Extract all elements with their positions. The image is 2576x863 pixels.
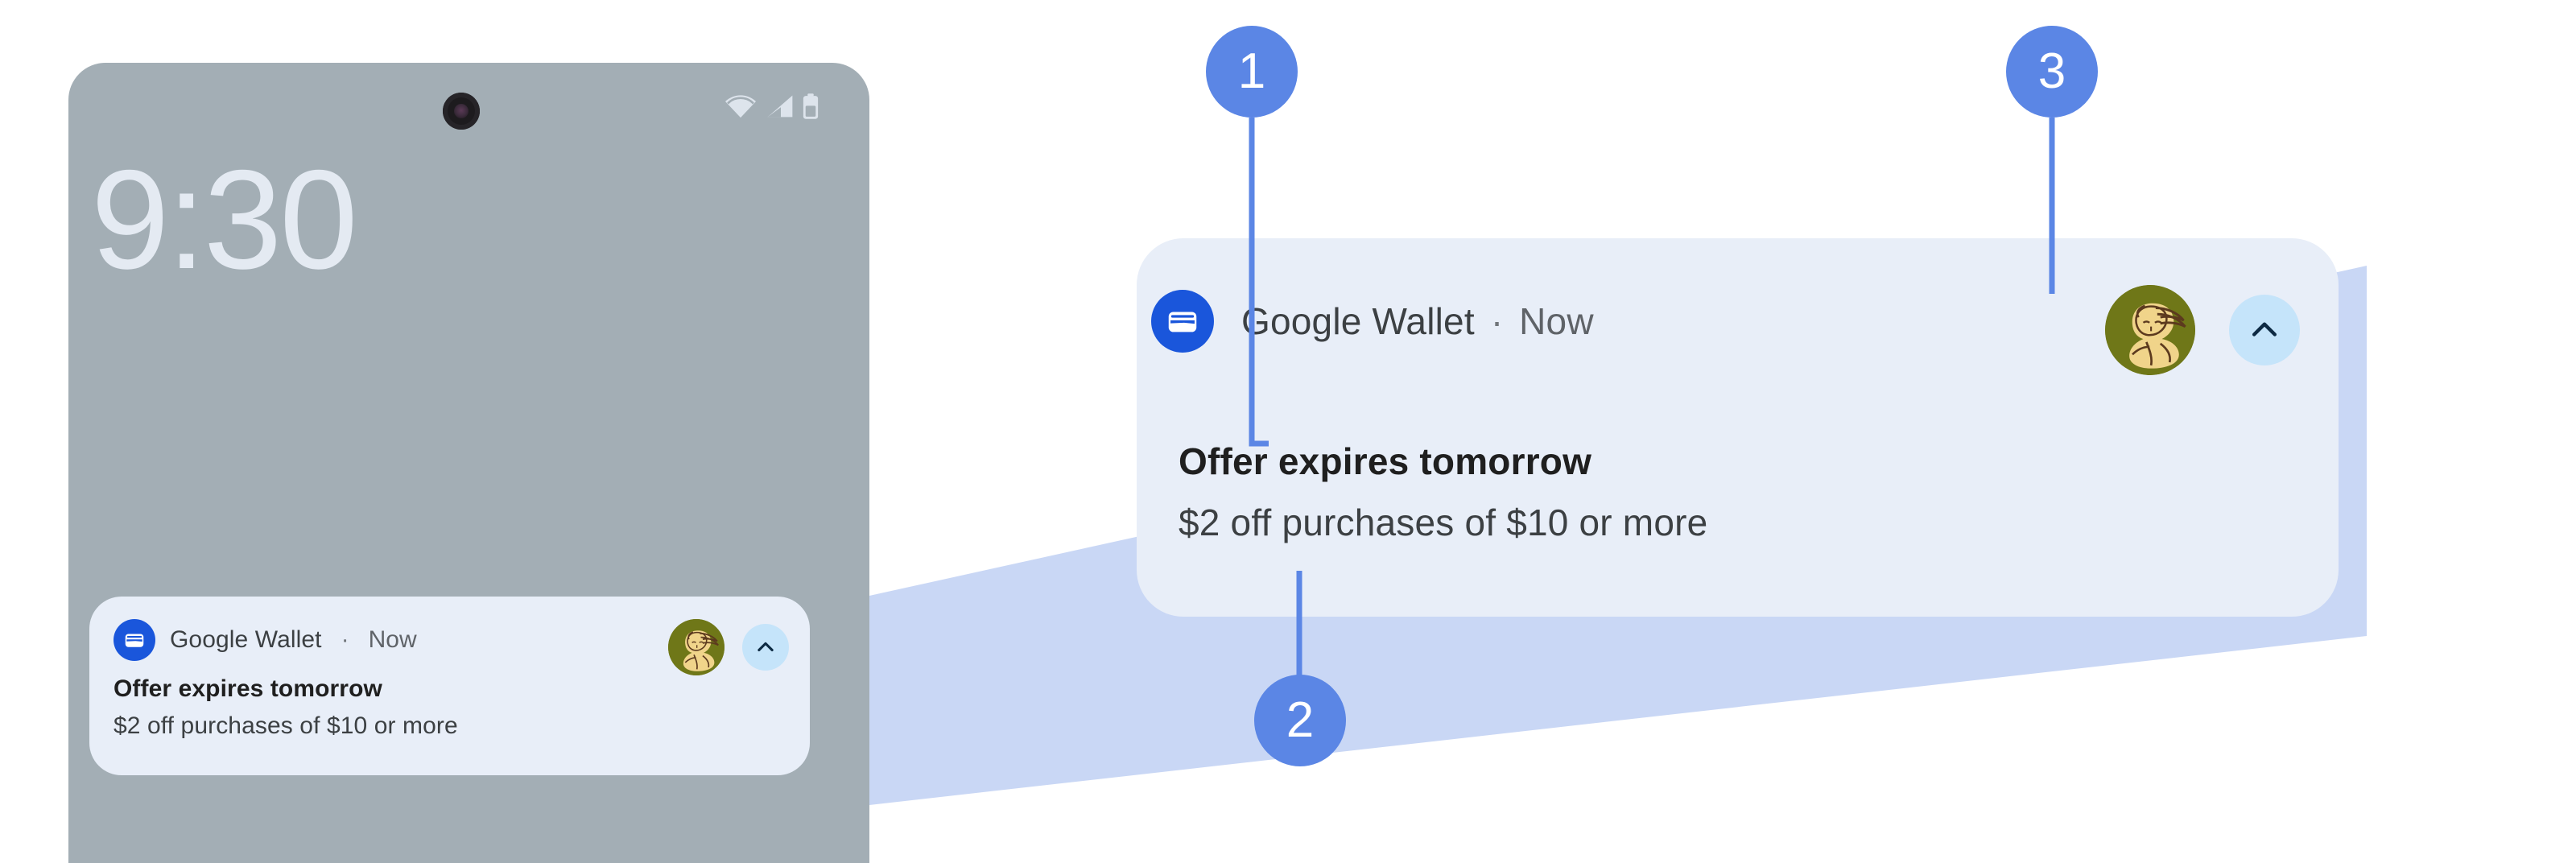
illustration-canvas: 9:30 Google Wallet · Now Offer expires t… [0, 0, 2576, 863]
callout-badge-3[interactable]: 3 [2006, 26, 2098, 118]
callout-badges: 1 3 2 [0, 0, 2576, 863]
callout-badge-1[interactable]: 1 [1206, 26, 1298, 118]
callout-badge-2[interactable]: 2 [1254, 675, 1346, 766]
